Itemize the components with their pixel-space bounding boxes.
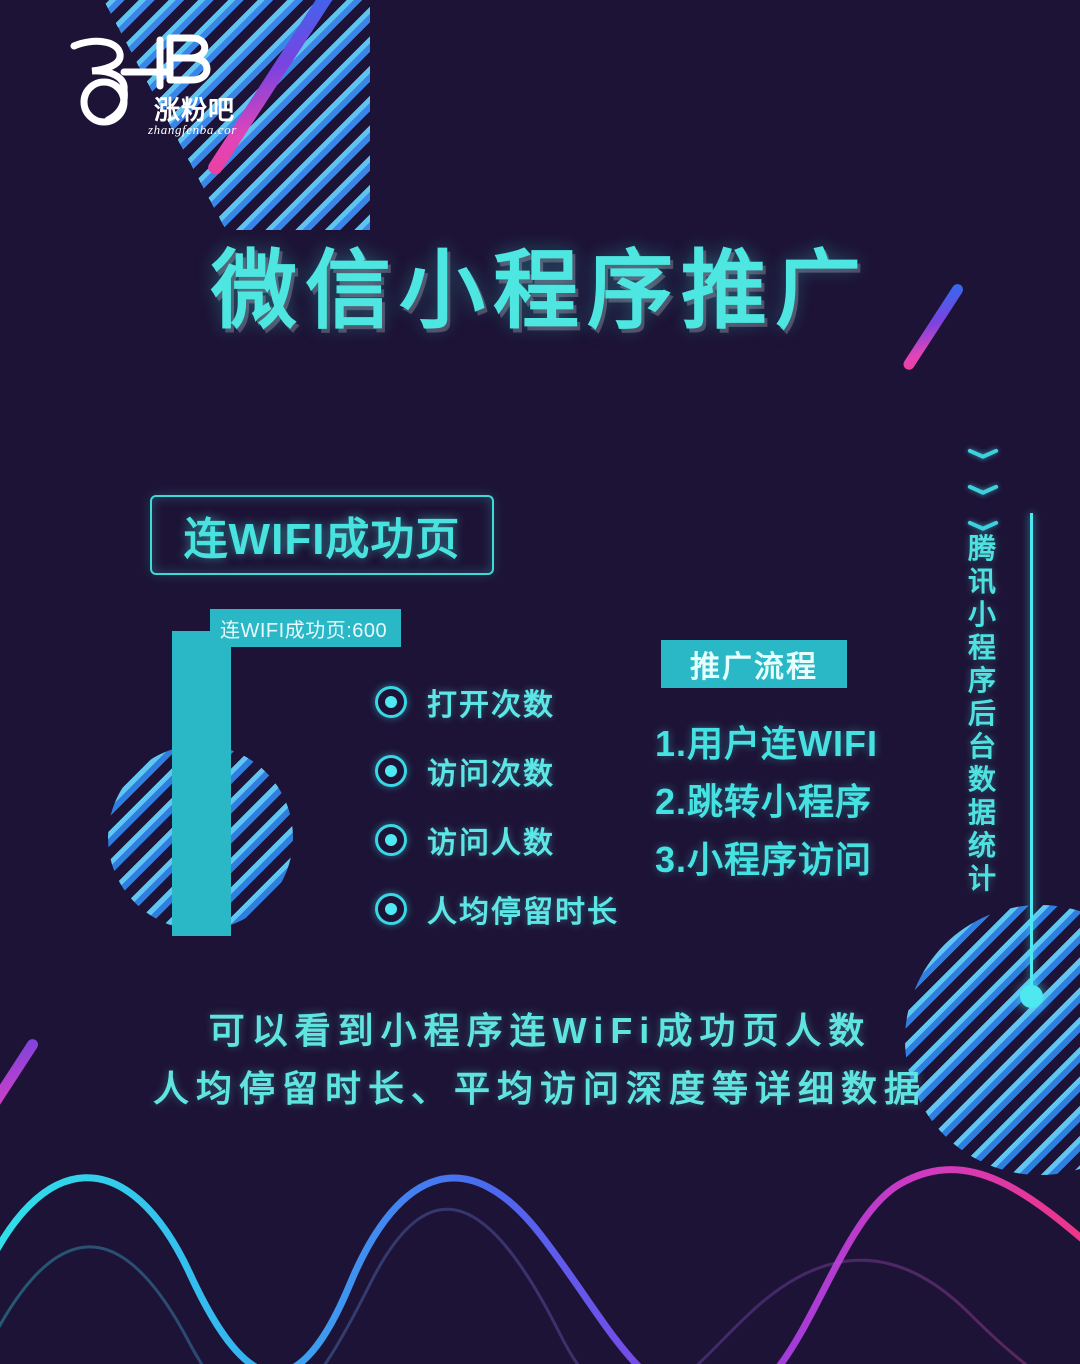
flow-step-list: 1.用户连WIFI 2.跳转小程序 3.小程序访问	[655, 722, 878, 896]
flow-step: 3.小程序访问	[655, 838, 878, 882]
brand-logo: 涨粉吧 zhangfenba.cor	[62, 28, 262, 138]
list-item: 访问人数	[355, 814, 619, 866]
pin-line-decoration	[1030, 513, 1033, 996]
list-item: 访问次数	[355, 745, 619, 797]
chart-bar-data-label-text: 连WIFI成功页:600	[220, 614, 387, 643]
chevron-down-icon	[968, 484, 998, 498]
section-label-box: 连WIFI成功页	[150, 495, 494, 575]
side-vertical-caption: 腾讯小程序后台数据统计	[963, 532, 1003, 895]
description-block: 可以看到小程序连WiFi成功页人数 人均停留时长、平均访问深度等详细数据	[0, 1002, 1080, 1119]
metric-label: 打开次数	[427, 680, 555, 724]
poster-root: 涨粉吧 zhangfenba.cor 微信小程序推广 连WIFI成功页 连WIF…	[0, 0, 1080, 1364]
metric-label: 访问人数	[427, 818, 555, 862]
flow-step: 1.用户连WIFI	[655, 722, 878, 766]
radio-bullet-icon	[375, 686, 407, 718]
radio-bullet-icon	[375, 755, 407, 787]
metric-label: 访问次数	[427, 749, 555, 793]
radio-bullet-icon	[375, 824, 407, 856]
description-line-1: 可以看到小程序连WiFi成功页人数	[0, 1002, 1080, 1060]
list-item: 打开次数	[355, 676, 619, 728]
radio-bullet-icon	[375, 893, 407, 925]
flow-badge-text: 推广流程	[690, 642, 818, 686]
wave-decoration	[0, 1104, 1080, 1364]
metrics-list: 打开次数 访问次数 访问人数 人均停留时长	[355, 676, 619, 952]
list-item: 人均停留时长	[355, 883, 619, 935]
diagonal-gradient-bar-left	[0, 416, 1, 571]
chart-bar	[172, 631, 231, 936]
flow-badge: 推广流程	[661, 640, 847, 688]
page-title: 微信小程序推广	[0, 248, 1080, 334]
section-label-text: 连WIFI成功页	[184, 503, 461, 567]
logo-url-text: zhangfenba.cor	[148, 122, 237, 138]
metric-label: 人均停留时长	[427, 887, 619, 931]
chart-bar-data-label: 连WIFI成功页:600	[210, 609, 401, 647]
flow-step: 2.跳转小程序	[655, 780, 878, 824]
chevron-down-icon	[968, 448, 998, 462]
